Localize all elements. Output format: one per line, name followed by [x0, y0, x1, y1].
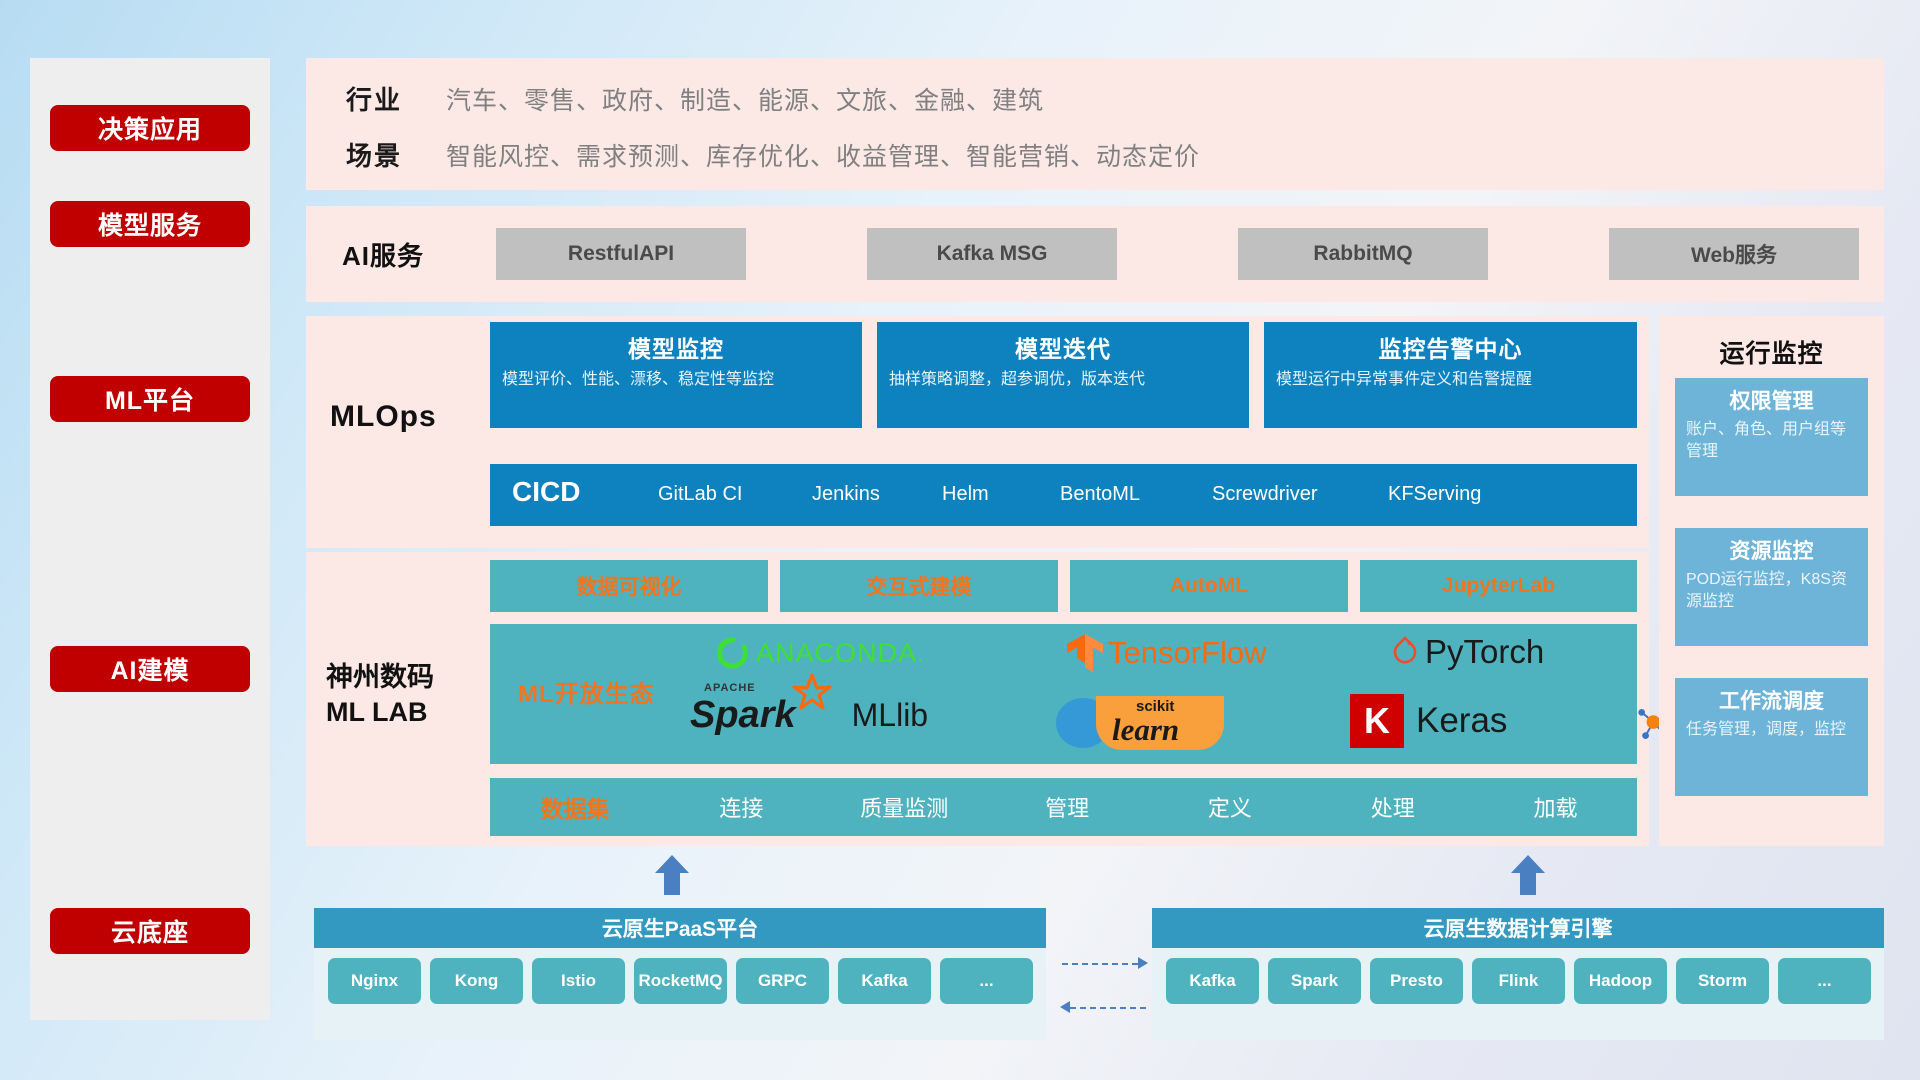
industry-value: 汽车、零售、政府、制造、能源、文旅、金融、建筑 [446, 81, 1044, 117]
anaconda-ring-icon [716, 636, 750, 670]
dataset-item-load[interactable]: 加载 [1474, 791, 1637, 823]
ai-service-chip-restfulapi[interactable]: RestfulAPI [496, 228, 746, 280]
rail-chip-model-service[interactable]: 模型服务 [50, 201, 250, 247]
paas-chip-istio[interactable]: Istio [532, 958, 625, 1004]
ai-service-chip-kafka-msg[interactable]: Kafka MSG [867, 228, 1117, 280]
mllib-logo-text: MLlib [852, 697, 928, 734]
ai-modeling-label: 神州数码 ML LAB [326, 660, 434, 730]
anaconda-logo: ANACONDA . [716, 636, 925, 670]
cicd-item-helm[interactable]: Helm [942, 482, 1057, 507]
up-arrow-engine [1511, 855, 1545, 895]
paas-chip-grpc[interactable]: GRPC [736, 958, 829, 1004]
ai-modeling-label-line2: ML LAB [326, 695, 434, 730]
ai-service-label: AI服务 [342, 236, 424, 273]
ml-ecosystem-label: ML开放生态 [518, 674, 655, 709]
tool-chip-interactive-modeling[interactable]: 交互式建模 [780, 560, 1058, 612]
mlops-card-alert-center[interactable]: 监控告警中心 模型运行中异常事件定义和告警提醒 [1264, 322, 1637, 428]
spark-star-icon [788, 672, 832, 712]
mlops-card-desc: 抽样策略调整，超参调优，版本迭代 [889, 369, 1237, 391]
tensorflow-mark-icon [1065, 632, 1105, 674]
mlops-card-title: 监控告警中心 [1276, 330, 1625, 364]
cicd-item-jenkins[interactable]: Jenkins [812, 482, 927, 507]
paas-chip-kong[interactable]: Kong [430, 958, 523, 1004]
engine-chip-flink[interactable]: Flink [1472, 958, 1565, 1004]
ai-service-panel: AI服务 RestfulAPI Kafka MSG RabbitMQ Web服务 [306, 206, 1884, 302]
keras-logo: K Keras [1350, 694, 1507, 748]
dashed-arrowhead-left [1060, 1001, 1070, 1013]
spark-mllib-logo: APACHE Spark MLlib [690, 694, 928, 737]
ai-modeling-label-line1: 神州数码 [326, 660, 434, 695]
engine-chip-kafka[interactable]: Kafka [1166, 958, 1259, 1004]
pytorch-logo: PyTorch [1390, 633, 1544, 671]
rail-chip-decision[interactable]: 决策应用 [50, 105, 250, 151]
ai-service-chip-rabbitmq[interactable]: RabbitMQ [1238, 228, 1488, 280]
rail-chip-ai-modeling[interactable]: AI建模 [50, 646, 250, 692]
tool-chip-data-visualization[interactable]: 数据可视化 [490, 560, 768, 612]
dataset-band: 数据集 连接 质量监测 管理 定义 处理 加载 [490, 778, 1637, 836]
engine-chip-spark[interactable]: Spark [1268, 958, 1361, 1004]
scikit-learn-logo: scikit learn [1056, 696, 1224, 750]
cicd-item-kfserving[interactable]: KFServing [1388, 482, 1503, 507]
mlops-card-desc: 模型评价、性能、漂移、稳定性等监控 [502, 369, 850, 391]
paas-chip-nginx[interactable]: Nginx [328, 958, 421, 1004]
pytorch-logo-text: PyTorch [1425, 633, 1544, 671]
cicd-bar: CICD GitLab CI Jenkins Helm BentoML Scre… [490, 464, 1637, 526]
monitor-card-title: 资源监控 [1686, 535, 1857, 565]
rail-chip-ml-platform[interactable]: ML平台 [50, 376, 250, 422]
keras-logo-text: Keras [1416, 701, 1507, 741]
monitor-card-desc: 账户、角色、用户组等管理 [1686, 419, 1857, 462]
mlops-card-title: 模型迭代 [889, 330, 1237, 364]
architecture-diagram: 决策应用 模型服务 ML平台 AI建模 云底座 行业 汽车、零售、政府、制造、能… [0, 0, 1920, 1080]
dataset-item-connect[interactable]: 连接 [660, 791, 823, 823]
monitor-card-desc: 任务管理，调度，监控 [1686, 719, 1857, 741]
anaconda-logo-dot: . [917, 638, 925, 669]
anaconda-logo-text: ANACONDA [756, 638, 917, 669]
engine-chip-storm[interactable]: Storm [1676, 958, 1769, 1004]
monitor-card-permission[interactable]: 权限管理 账户、角色、用户组等管理 [1675, 378, 1868, 496]
tool-chip-automl[interactable]: AutoML [1070, 560, 1348, 612]
industry-row: 行业 汽车、零售、政府、制造、能源、文旅、金融、建筑 [346, 80, 1044, 117]
engine-chip-hadoop[interactable]: Hadoop [1574, 958, 1667, 1004]
monitor-card-resource[interactable]: 资源监控 POD运行监控，K8S资源监控 [1675, 528, 1868, 646]
rail-chip-cloud-base[interactable]: 云底座 [50, 908, 250, 954]
spark-apache-text: APACHE [704, 682, 756, 694]
dataset-item-process[interactable]: 处理 [1311, 791, 1474, 823]
dataset-item-define[interactable]: 定义 [1148, 791, 1311, 823]
paas-chip-more[interactable]: ... [940, 958, 1033, 1004]
monitor-card-title: 工作流调度 [1686, 685, 1857, 715]
runtime-monitor-panel: 运行监控 权限管理 账户、角色、用户组等管理 资源监控 POD运行监控，K8S资… [1659, 316, 1884, 846]
runtime-monitor-title: 运行监控 [1659, 334, 1884, 370]
cicd-title: CICD [512, 476, 580, 508]
mlops-card-model-iteration[interactable]: 模型迭代 抽样策略调整，超参调优，版本迭代 [877, 322, 1249, 428]
left-rail: 决策应用 模型服务 ML平台 AI建模 云底座 [30, 58, 270, 1020]
dashed-connector-left [1070, 1007, 1146, 1009]
ml-ecosystem-band: ML开放生态 ANACONDA . TensorFlow [490, 624, 1637, 764]
scikit-orange-blob-icon: scikit learn [1096, 696, 1224, 750]
monitor-card-desc: POD运行监控，K8S资源监控 [1686, 569, 1857, 612]
scenario-value: 智能风控、需求预测、库存优化、收益管理、智能营销、动态定价 [446, 137, 1200, 173]
tool-chip-jupyterlab[interactable]: JupyterLab [1360, 560, 1637, 612]
monitor-card-workflow[interactable]: 工作流调度 任务管理，调度，监控 [1675, 678, 1868, 796]
pytorch-flame-icon [1390, 635, 1420, 669]
dashed-connector-right [1062, 963, 1138, 965]
paas-header: 云原生PaaS平台 [314, 908, 1046, 948]
cicd-item-bentoml[interactable]: BentoML [1060, 482, 1175, 507]
dataset-item-manage[interactable]: 管理 [986, 791, 1149, 823]
engine-header: 云原生数据计算引擎 [1152, 908, 1884, 948]
ai-service-chip-web-service[interactable]: Web服务 [1609, 228, 1859, 280]
paas-chip-rocketmq[interactable]: RocketMQ [634, 958, 727, 1004]
dataset-title: 数据集 [490, 790, 660, 824]
tensorflow-logo: TensorFlow [1065, 632, 1267, 674]
keras-logo-k: K [1364, 700, 1390, 742]
spark-logo-text: Spark [690, 694, 796, 736]
engine-chip-more[interactable]: ... [1778, 958, 1871, 1004]
dashed-arrowhead-right [1138, 957, 1148, 969]
cicd-item-screwdriver[interactable]: Screwdriver [1212, 482, 1327, 507]
mlops-label: MLOps [330, 400, 437, 434]
engine-chip-presto[interactable]: Presto [1370, 958, 1463, 1004]
up-arrow-paas [655, 855, 689, 895]
cicd-item-gitlab-ci[interactable]: GitLab CI [658, 482, 773, 507]
tensorflow-logo-text: TensorFlow [1108, 635, 1267, 671]
industry-panel: 行业 汽车、零售、政府、制造、能源、文旅、金融、建筑 场景 智能风控、需求预测、… [306, 58, 1884, 190]
monitor-card-title: 权限管理 [1686, 385, 1857, 415]
industry-label: 行业 [346, 80, 446, 117]
mlops-card-title: 模型监控 [502, 330, 850, 364]
scenario-row: 场景 智能风控、需求预测、库存优化、收益管理、智能营销、动态定价 [346, 136, 1200, 173]
dataset-item-quality[interactable]: 质量监测 [823, 791, 986, 823]
scenario-label: 场景 [346, 136, 446, 173]
mlops-card-desc: 模型运行中异常事件定义和告警提醒 [1276, 369, 1625, 391]
keras-mark-icon: K [1350, 694, 1404, 748]
paas-chip-kafka[interactable]: Kafka [838, 958, 931, 1004]
learn-logo-text: learn [1112, 712, 1179, 748]
mlops-card-model-monitoring[interactable]: 模型监控 模型评价、性能、漂移、稳定性等监控 [490, 322, 862, 428]
